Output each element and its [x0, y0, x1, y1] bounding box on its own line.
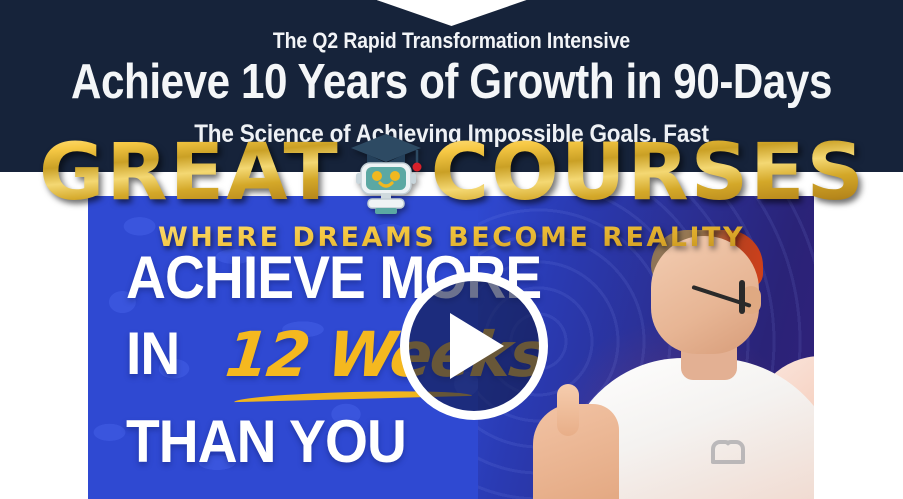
thumbnail-line-3: THAN YOU [126, 412, 406, 472]
play-triangle-icon [450, 313, 504, 379]
video-play-button[interactable] [400, 272, 548, 420]
page-root: The Q2 Rapid Transformation Intensive Ac… [0, 0, 903, 499]
headset-mic-icon [739, 280, 745, 314]
chevron-down-icon [377, 0, 527, 26]
header-eyebrow: The Q2 Rapid Transformation Intensive [54, 28, 849, 54]
page-title: Achieve 10 Years of Growth in 90-Days [63, 52, 840, 112]
thumbnail-line-2-prefix: IN [126, 324, 179, 384]
speaker-photo [543, 208, 814, 499]
page-header: The Q2 Rapid Transformation Intensive Ac… [0, 0, 903, 172]
header-subheadline: The Science of Achieving Impossible Goal… [45, 120, 858, 149]
under-armour-logo-icon [711, 438, 745, 458]
video-player[interactable]: ACHIEVE MORE IN 12 Weeks THAN YOU [88, 196, 814, 499]
